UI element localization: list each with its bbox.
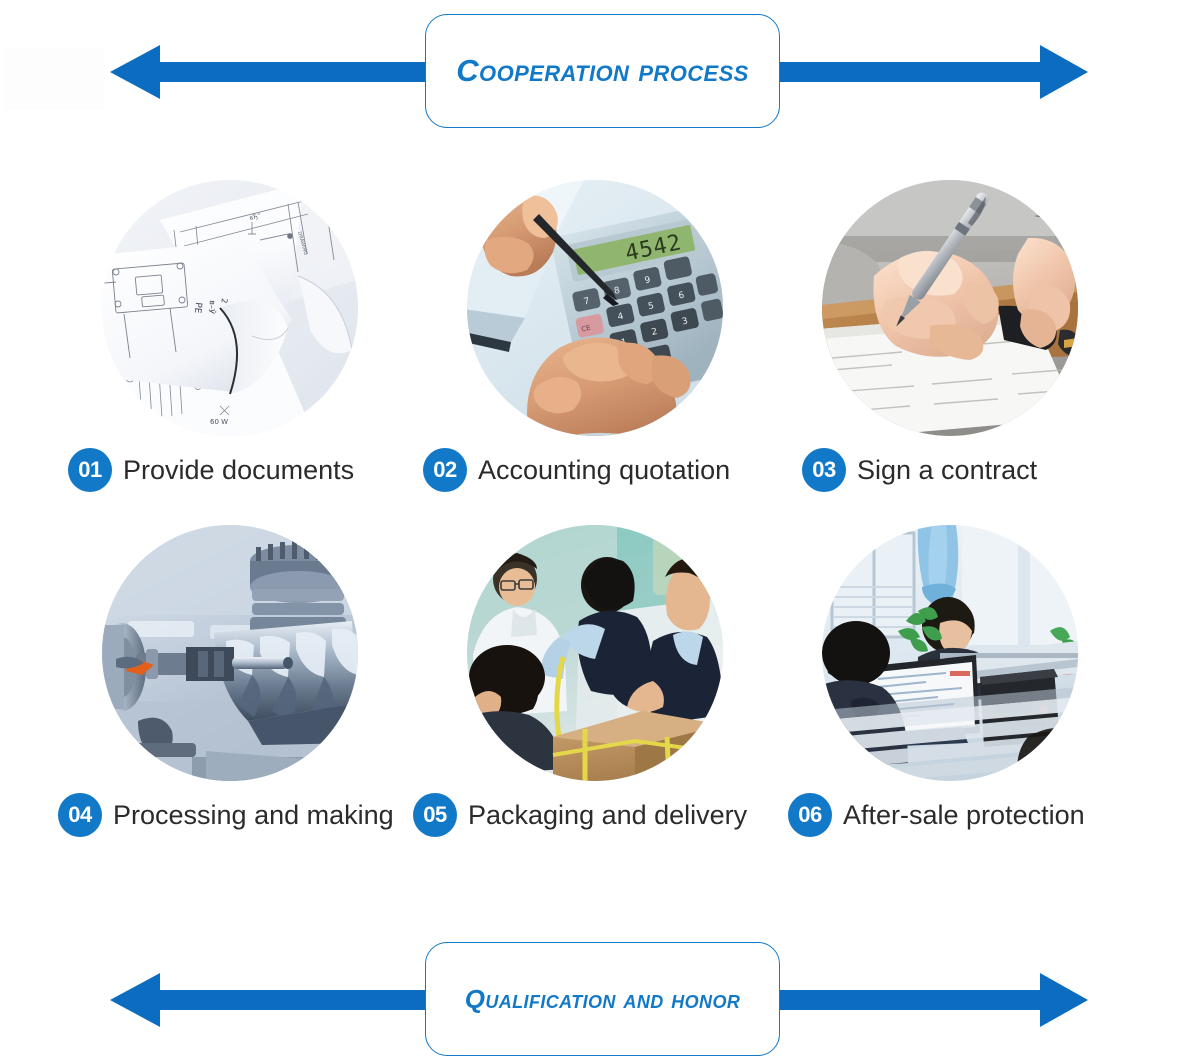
step-06-caption: 06 After-sale protection	[788, 793, 1085, 837]
step-card-05[interactable]: 05 Packaging and delivery	[395, 525, 795, 781]
step-02-caption: 02 Accounting quotation	[423, 448, 730, 492]
step-04-photo	[102, 525, 358, 781]
bottom-banner: Qualification and honor	[0, 928, 1200, 1058]
arrow-left-icon	[110, 45, 433, 99]
steps-row-1: 60 W	[0, 180, 1200, 525]
step-04-caption: 04 Processing and making	[58, 793, 394, 837]
step-02-badge: 02	[423, 448, 467, 492]
step-card-03[interactable]: 03 Sign a contract	[750, 180, 1150, 436]
top-banner-title-box: Cooperation process	[425, 14, 780, 128]
bottom-banner-title-box: Qualification and honor	[425, 942, 780, 1056]
step-01-label: Provide documents	[123, 457, 354, 484]
steps-grid: 60 W	[0, 180, 1200, 870]
step-card-04[interactable]: 04 Processing and making	[30, 525, 430, 781]
step-05-label: Packaging and delivery	[468, 802, 747, 829]
step-04-label: Processing and making	[113, 802, 394, 829]
step-06-photo	[822, 525, 1078, 781]
step-01-badge: 01	[68, 448, 112, 492]
svg-text:PE: PE	[192, 302, 203, 314]
step-05-badge: 05	[413, 793, 457, 837]
svg-text:60 W: 60 W	[210, 418, 228, 426]
step-03-badge: 03	[802, 448, 846, 492]
step-03-caption: 03 Sign a contract	[802, 448, 1037, 492]
step-02-photo: 4542	[467, 180, 723, 436]
step-card-06[interactable]: 06 After-sale protection	[750, 525, 1150, 781]
step-04-badge: 04	[58, 793, 102, 837]
steps-row-2: 04 Processing and making	[0, 525, 1200, 870]
step-01-photo: 60 W	[102, 180, 358, 436]
step-05-photo	[467, 525, 723, 781]
cooperation-process-infographic: Cooperation process	[0, 0, 1200, 1060]
step-01-caption: 01 Provide documents	[68, 448, 354, 492]
arrow-right-icon	[772, 973, 1088, 1027]
step-card-02[interactable]: 4542	[395, 180, 795, 436]
top-banner: Cooperation process	[0, 0, 1200, 130]
arrow-left-icon	[110, 973, 433, 1027]
svg-text:2: 2	[219, 298, 228, 304]
arrow-right-icon	[772, 45, 1088, 99]
step-02-label: Accounting quotation	[478, 457, 730, 484]
step-card-01[interactable]: 60 W	[30, 180, 430, 436]
step-03-photo	[822, 180, 1078, 436]
step-03-label: Sign a contract	[857, 457, 1037, 484]
step-06-badge: 06	[788, 793, 832, 837]
step-06-label: After-sale protection	[843, 802, 1085, 829]
bottom-banner-title: Qualification and honor	[465, 984, 741, 1015]
top-banner-title: Cooperation process	[456, 53, 748, 89]
step-05-caption: 05 Packaging and delivery	[413, 793, 747, 837]
